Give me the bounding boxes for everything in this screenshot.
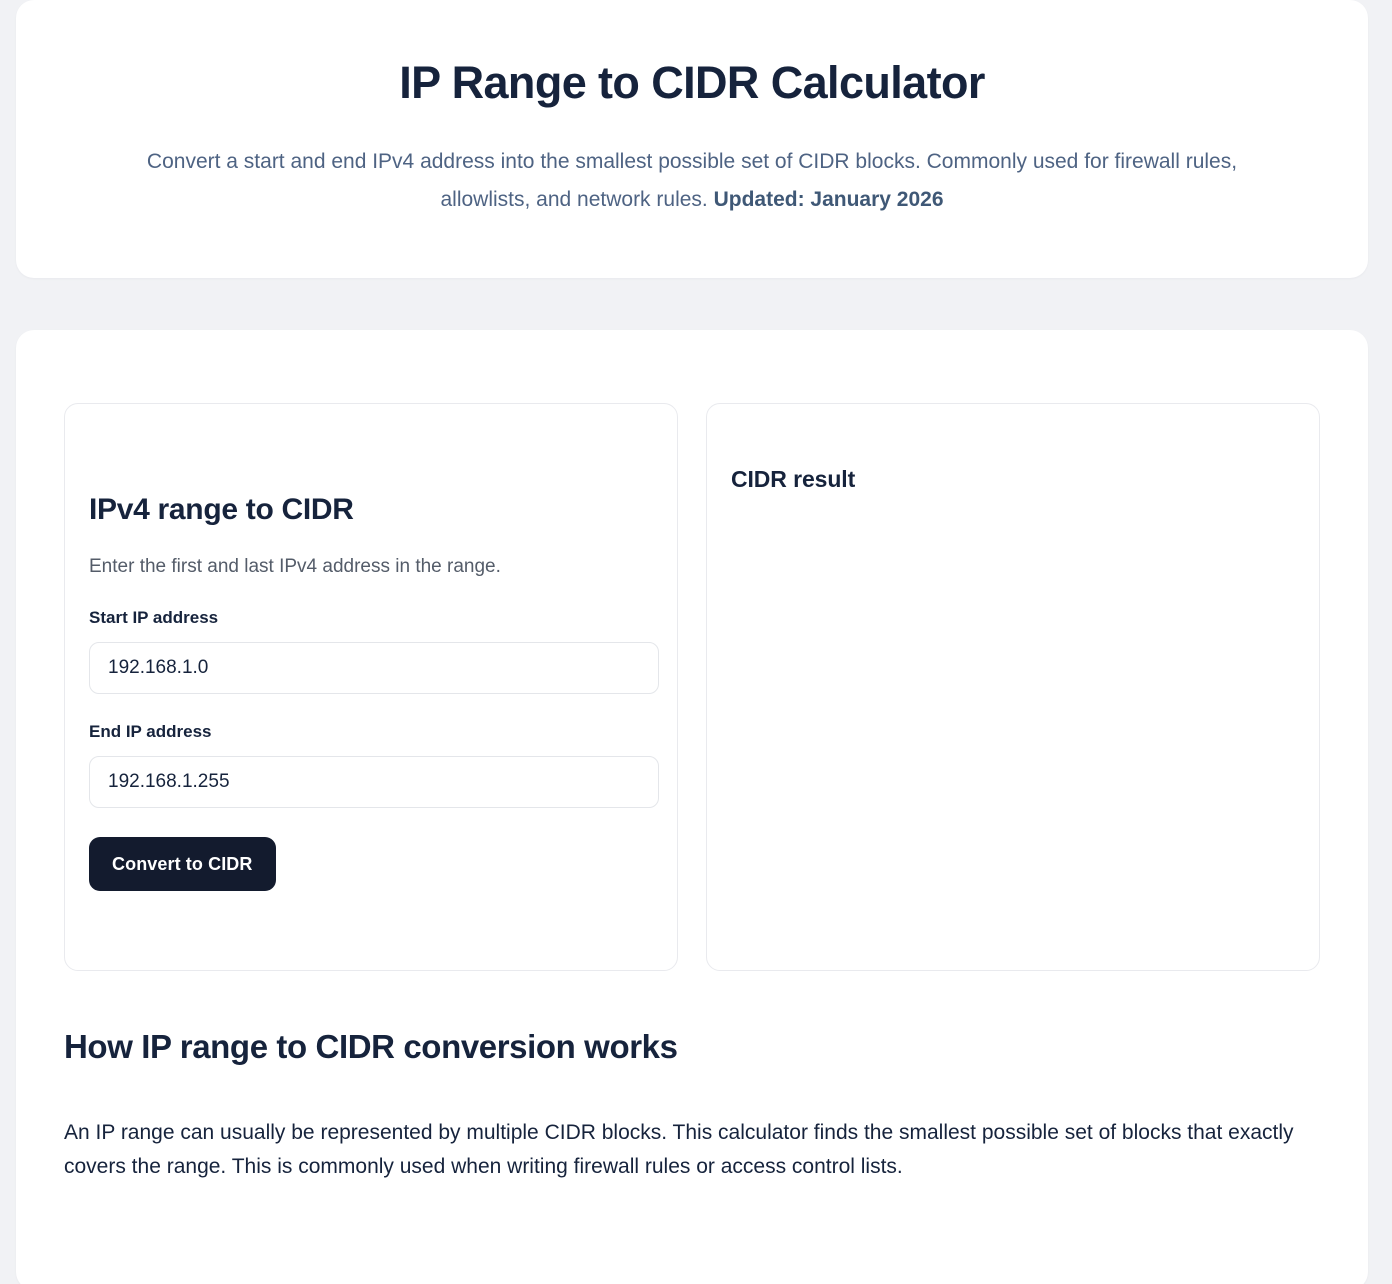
page-root: IP Range to CIDR Calculator Convert a st… [0,0,1392,1284]
form-panel-description: Enter the first and last IPv4 address in… [89,528,653,580]
panels-row: IPv4 range to CIDR Enter the first and l… [64,403,1320,971]
start-ip-label: Start IP address [89,580,653,628]
page-subtitle-main: Convert a start and end IPv4 address int… [147,150,1237,211]
end-ip-input[interactable] [89,756,659,808]
form-inner: IPv4 range to CIDR Enter the first and l… [65,404,677,891]
convert-to-cidr-button[interactable]: Convert to CIDR [89,837,276,891]
cidr-result-panel: CIDR result [706,403,1320,971]
explainer-body: An IP range can usually be represented b… [64,1067,1319,1184]
end-ip-label: End IP address [89,694,653,742]
start-ip-input[interactable] [89,642,659,694]
main-card: IPv4 range to CIDR Enter the first and l… [16,330,1368,1284]
updated-badge: Updated: January 2026 [714,188,944,211]
result-panel-body [731,494,1295,508]
page-title: IP Range to CIDR Calculator [16,0,1368,109]
form-panel-title: IPv4 range to CIDR [89,492,653,528]
result-inner: CIDR result [707,404,1319,508]
header-card: IP Range to CIDR Calculator Convert a st… [16,0,1368,278]
ipv4-range-form-panel: IPv4 range to CIDR Enter the first and l… [64,403,678,971]
explainer-title: How IP range to CIDR conversion works [64,1027,1320,1067]
result-panel-title: CIDR result [731,466,1295,494]
explainer-section: How IP range to CIDR conversion works An… [64,1027,1320,1184]
page-subtitle: Convert a start and end IPv4 address int… [16,109,1368,219]
